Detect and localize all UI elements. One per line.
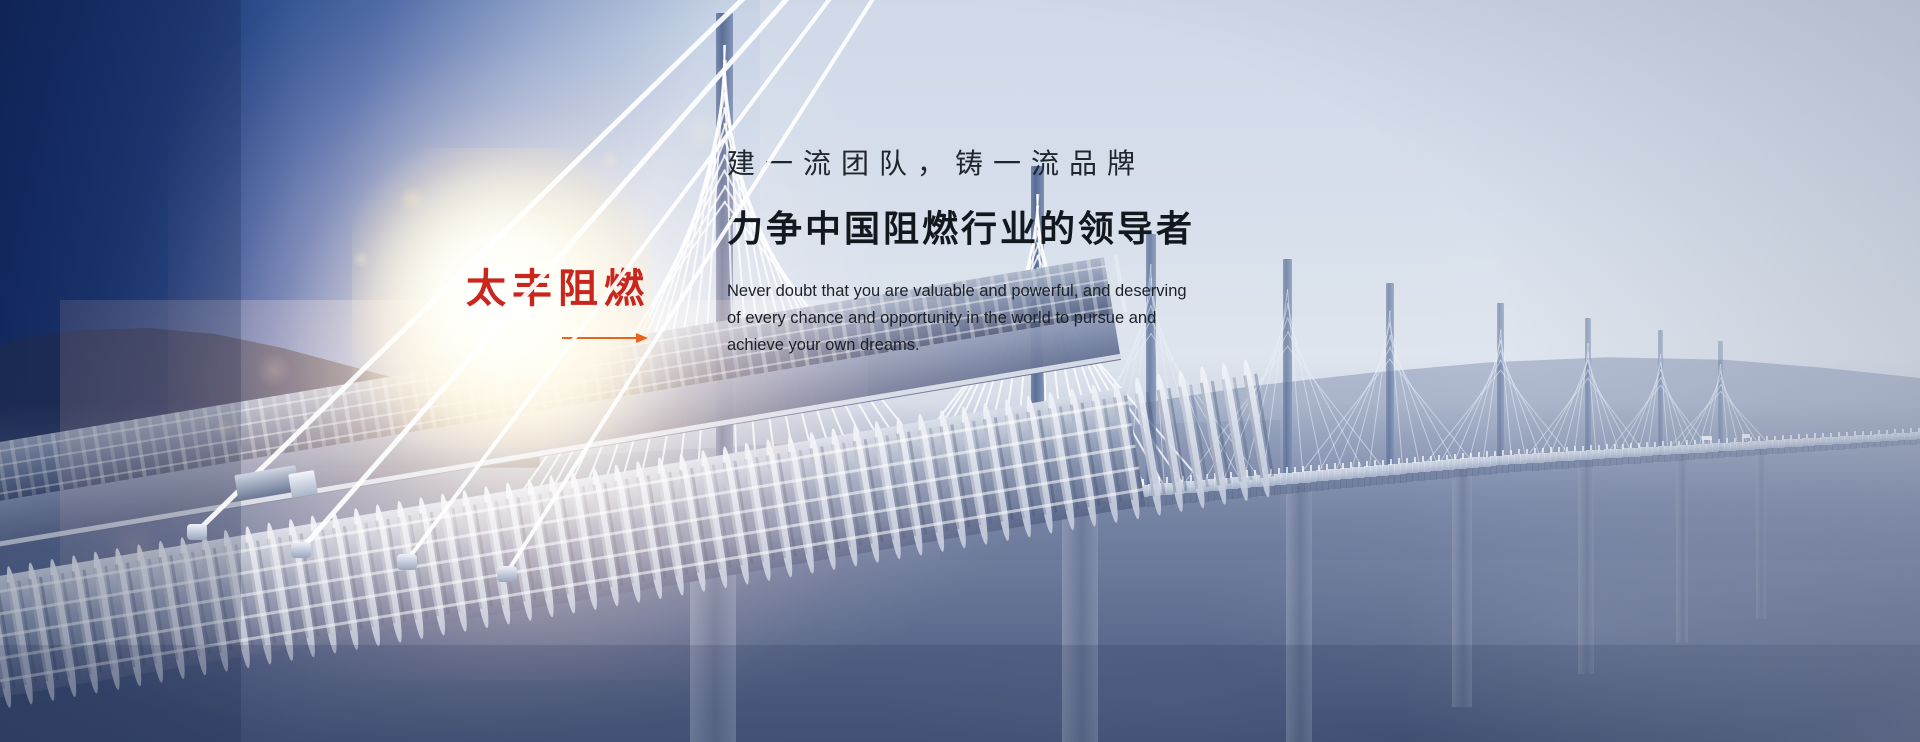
paragraph-line-1: Never doubt that you are valuable and po… [727, 278, 1197, 305]
cable-anchor [397, 554, 417, 570]
truck-cab [288, 470, 318, 498]
cable-anchor [187, 524, 207, 540]
paragraph-line-2: of every chance and opportunity in the w… [727, 305, 1197, 332]
cable-anchor [291, 542, 311, 558]
banner-headline: 力争中国阻燃行业的领导者 [727, 212, 1487, 248]
banner-copy: 建一流团队，铸一流品牌 力争中国阻燃行业的领导者 Never doubt tha… [727, 150, 1487, 359]
paragraph-line-3: achieve your own dreams. [727, 332, 1197, 359]
hero-banner: 太丰阻燃 建一流团队，铸一流品牌 力争中国阻燃行业的领导者 Never doub… [0, 0, 1920, 742]
arrow-head [636, 333, 648, 343]
cable-anchor [497, 566, 517, 582]
banner-content: 太丰阻燃 建一流团队，铸一流品牌 力争中国阻燃行业的领导者 Never doub… [0, 0, 1920, 742]
banner-paragraph: Never doubt that you are valuable and po… [727, 278, 1197, 359]
banner-subheadline: 建一流团队，铸一流品牌 [727, 150, 1487, 178]
